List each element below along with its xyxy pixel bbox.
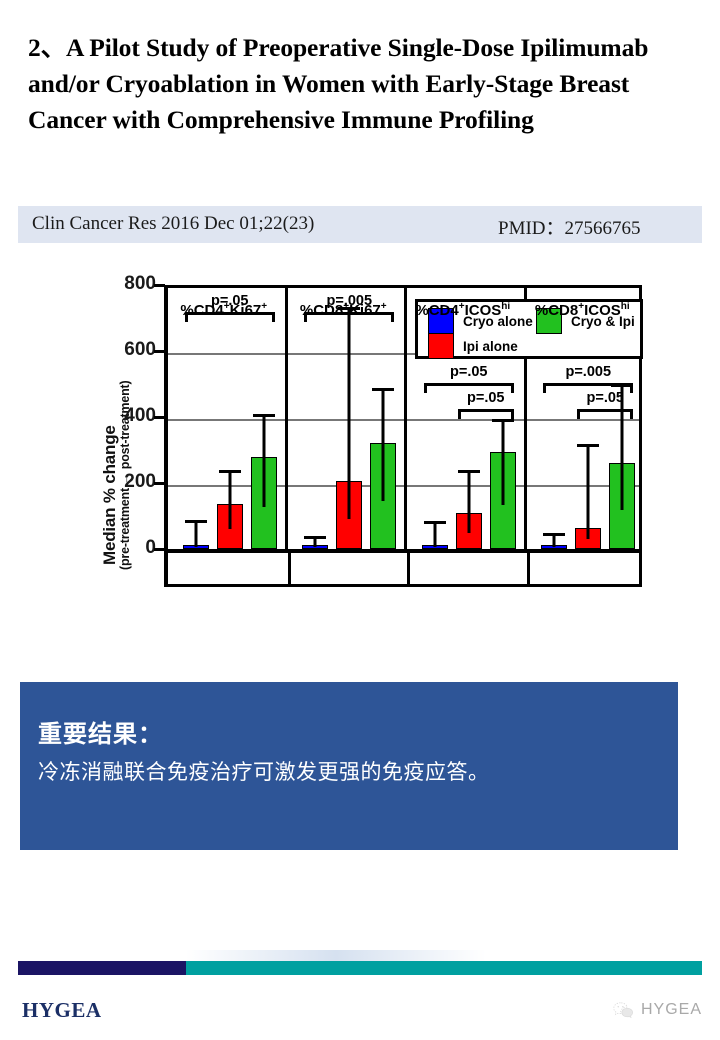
error-bar xyxy=(348,310,351,519)
error-bar xyxy=(228,473,231,529)
brand-logo-left: HYGEA xyxy=(22,998,102,1023)
error-bar xyxy=(553,536,556,547)
legend-swatch xyxy=(428,333,454,359)
error-bar-cap xyxy=(492,419,514,422)
p-value-label: p=.005 xyxy=(543,364,633,380)
error-bar xyxy=(433,524,436,547)
p-value-label: p=.05 xyxy=(577,390,633,406)
bar-group-cryo-ipi xyxy=(370,285,396,553)
slide-root: 2、A Pilot Study of Preoperative Single-D… xyxy=(0,0,720,1040)
error-bar-cap xyxy=(577,444,599,447)
x-axis-separator xyxy=(288,553,291,584)
x-axis-band xyxy=(164,553,642,587)
y-tick-label: 200 xyxy=(96,471,156,493)
x-category-label: %CD8+ICOShi xyxy=(523,301,643,319)
legend-label: Ipi alone xyxy=(463,339,518,354)
bar-group-ipi-alone xyxy=(217,285,243,553)
x-axis-separator xyxy=(527,553,530,584)
footer-bar-teal xyxy=(186,961,702,975)
bracket-line xyxy=(543,383,633,386)
y-tick-label: 400 xyxy=(96,405,156,427)
x-axis-separator xyxy=(407,553,410,584)
bracket-tick-left xyxy=(424,383,427,393)
chart-panel: p=.005 xyxy=(288,288,408,553)
error-bar xyxy=(587,447,590,540)
citation-journal: Clin Cancer Res 2016 Dec 01;22(23) xyxy=(32,213,314,235)
bracket-line xyxy=(577,409,633,412)
chart-panel: p=.05 xyxy=(168,288,288,553)
page-title: 2、A Pilot Study of Preoperative Single-D… xyxy=(28,30,678,138)
brand-right-label: HYGEA xyxy=(641,1001,702,1019)
error-bar-cap xyxy=(424,521,446,524)
bar-group-cryo-alone xyxy=(302,285,328,553)
bracket-tick-right xyxy=(511,409,514,419)
plot-area: p=.05p=.005p=.05p=.05p=.005p=.05Cryo alo… xyxy=(164,285,642,553)
error-bar-cap xyxy=(185,520,207,523)
error-bar xyxy=(501,422,504,505)
chart-figure: Median % change (pre-treatment → post-tr… xyxy=(88,265,648,625)
citation-pmid: PMID：27566765 xyxy=(498,213,641,240)
x-category-label: %CD8+Ki67+ xyxy=(284,301,404,319)
legend-item: Ipi alone xyxy=(428,333,518,359)
bar-group-ipi-alone xyxy=(336,285,362,553)
wechat-icon xyxy=(613,1001,634,1019)
y-tick-label: 0 xyxy=(96,537,156,559)
footer-bar-navy xyxy=(18,961,186,975)
error-bar xyxy=(262,417,265,507)
error-bar-cap xyxy=(304,536,326,539)
bracket-tick-left xyxy=(577,409,580,419)
bracket-tick-right xyxy=(630,409,633,419)
error-bar xyxy=(467,473,470,533)
y-tick-label: 600 xyxy=(96,339,156,361)
error-bar-cap xyxy=(458,470,480,473)
error-bar xyxy=(382,391,385,502)
error-bar xyxy=(194,523,197,548)
p-value-label: p=.05 xyxy=(458,390,514,406)
key-result-text: 冷冻消融联合免疫治疗可激发更强的免疫应答。 xyxy=(38,756,490,786)
bar-group-cryo-ipi xyxy=(251,285,277,553)
error-bar-cap xyxy=(253,414,275,417)
bracket-tick-left xyxy=(543,383,546,393)
error-bar xyxy=(314,539,317,547)
bracket-line xyxy=(424,383,514,386)
brand-logo-right: HYGEA xyxy=(613,1001,702,1019)
error-bar-cap xyxy=(372,388,394,391)
y-tick-label: 800 xyxy=(96,273,156,295)
error-bar-cap xyxy=(219,470,241,473)
citation-bar: Clin Cancer Res 2016 Dec 01;22(23) PMID：… xyxy=(18,206,702,243)
key-result-heading: 重要结果： xyxy=(38,714,163,749)
bracket-line xyxy=(458,409,514,412)
p-value-label: p=.05 xyxy=(424,364,514,380)
x-category-label: %CD4+ICOShi xyxy=(403,301,523,319)
error-bar-cap xyxy=(543,533,565,536)
x-category-label: %CD4+Ki67+ xyxy=(164,301,284,319)
bracket-tick-left xyxy=(458,409,461,419)
key-result-box: 重要结果： 冷冻消融联合免疫治疗可激发更强的免疫应答。 xyxy=(20,682,678,850)
bar-group-cryo-alone xyxy=(183,285,209,553)
